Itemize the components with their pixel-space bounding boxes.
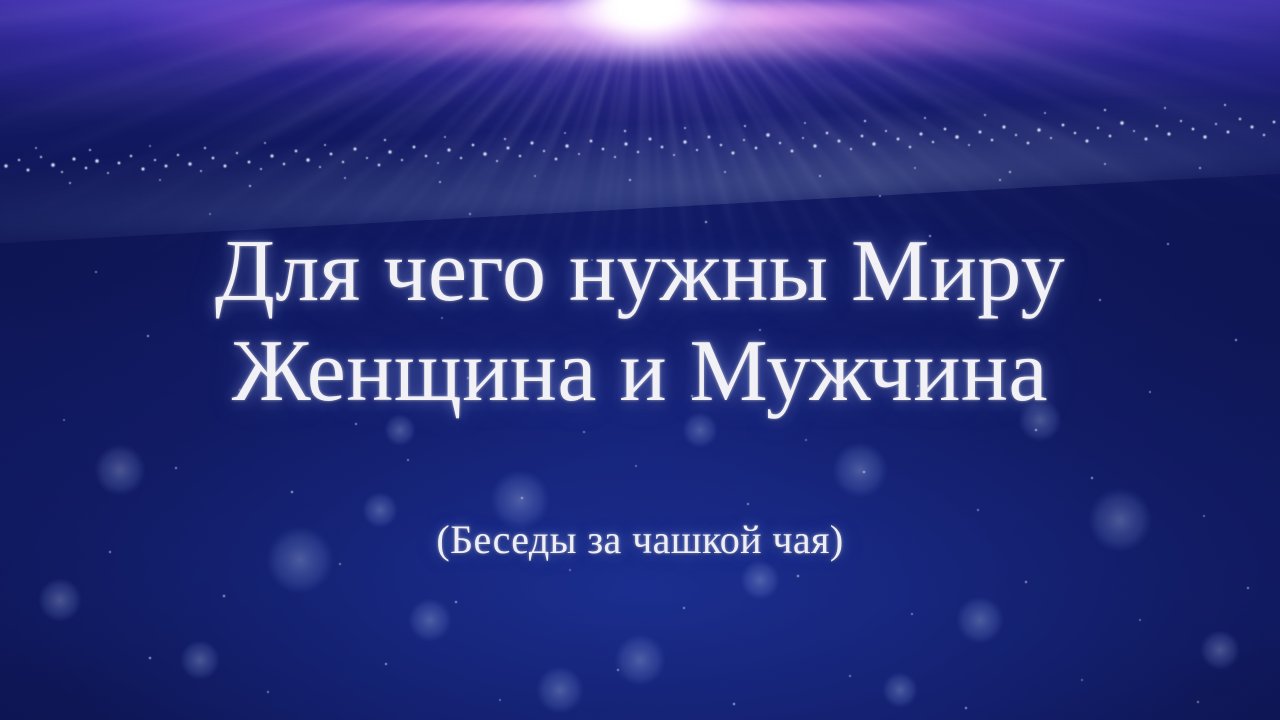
wave-band-dots bbox=[4, 104, 1276, 188]
title-line-2: Женщина и Мужчина bbox=[0, 322, 1280, 422]
title-block: Для чего нужны Миру Женщина и Мужчина bbox=[0, 222, 1280, 422]
subtitle: (Беседы за чашкой чая) bbox=[0, 513, 1280, 567]
title-line-1: Для чего нужны Миру bbox=[0, 222, 1280, 322]
title-card: Для чего нужны Миру Женщина и Мужчина (Б… bbox=[0, 0, 1280, 720]
